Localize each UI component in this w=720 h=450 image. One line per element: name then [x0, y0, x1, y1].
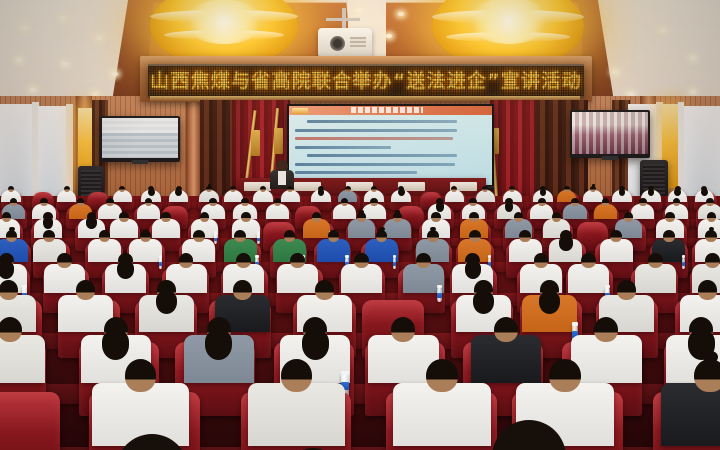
audience-head [371, 186, 377, 192]
audience-torso [661, 383, 720, 446]
audience-hair [559, 236, 572, 251]
audience-head [145, 198, 153, 206]
chair [0, 392, 60, 450]
audience-torso [530, 204, 553, 219]
audience-torso [152, 219, 179, 238]
bottle-label [393, 262, 397, 266]
chair-highlight [362, 300, 424, 323]
monitor-mount-right [602, 156, 618, 160]
water-bottle [437, 288, 442, 303]
audience-torso [348, 219, 375, 238]
audience-head [665, 212, 674, 222]
downlight [62, 62, 68, 66]
flag-banner [274, 128, 283, 154]
audience-head [43, 230, 55, 242]
audience-head [514, 212, 523, 222]
audience-torso [281, 190, 300, 202]
audience-hair [117, 261, 133, 279]
water-bottle [214, 234, 217, 243]
audience-head [161, 212, 170, 222]
downlight [60, 16, 66, 20]
slide-header-text [351, 107, 423, 113]
audience-head [209, 198, 217, 206]
bottle-cap [393, 255, 397, 259]
bottle-label [257, 238, 260, 241]
audience-head [519, 230, 531, 242]
audience-hair [395, 210, 399, 214]
audience-torso [563, 204, 586, 219]
bottle-cap [341, 371, 348, 375]
audience-torso [635, 264, 676, 293]
downlight [628, 92, 634, 96]
audience-head [40, 198, 48, 206]
ceiling-projector [318, 28, 372, 58]
audience-torso [0, 335, 45, 383]
audience-head [705, 230, 717, 242]
audience-head [431, 212, 440, 222]
slide-text-line [307, 154, 457, 157]
audience-torso [594, 204, 617, 219]
audience-head [391, 317, 415, 342]
audience-head [206, 186, 212, 192]
audience-head [617, 280, 636, 300]
audience-head [469, 198, 477, 206]
chair-highlight [0, 392, 60, 431]
monitor-mount-left [132, 160, 148, 164]
water-bottle [682, 258, 686, 270]
audience-head [193, 230, 205, 242]
projector-lens-icon [330, 36, 345, 51]
audience-torso [88, 239, 121, 262]
audience-head [76, 280, 95, 300]
audience-torso [445, 190, 464, 202]
audience-torso [253, 190, 272, 202]
conference-photo: 山西焦煤与省高院联合举办“送法进企”宣讲活动 [0, 0, 720, 450]
audience-head [2, 212, 11, 222]
audience-head [354, 253, 369, 268]
bottle-cap [214, 231, 217, 235]
bottle-cap [345, 255, 349, 259]
led-banner: 山西焦煤与省高院联合举办“送法进企”宣讲活动 [148, 64, 584, 98]
downlight [112, 72, 118, 76]
flag-banner [251, 130, 260, 156]
audience-torso [266, 204, 289, 219]
audience-head [233, 280, 252, 300]
audience-head [241, 212, 250, 222]
audience-head [706, 198, 714, 206]
audience-torso [98, 204, 121, 219]
slide-text-line [295, 137, 453, 140]
audience-head [469, 212, 478, 222]
projection-screen [287, 104, 494, 188]
wall-monitor-right-screen [572, 112, 648, 154]
bottle-cap [682, 255, 686, 259]
chair-highlight [87, 192, 109, 199]
slide-text-line [295, 129, 457, 132]
downlight [92, 92, 98, 96]
bottle-label [159, 262, 163, 266]
audience-head [469, 230, 481, 242]
audience-head [594, 317, 618, 342]
audience-head [106, 198, 114, 206]
presenter [270, 160, 294, 188]
audience-head [6, 230, 18, 242]
audience-head [119, 212, 128, 222]
audience-seating [0, 196, 720, 450]
audience-head [10, 198, 18, 206]
audience-hair [505, 202, 513, 211]
audience-head [8, 186, 14, 192]
audience-torso [333, 204, 356, 219]
slide-text-line [295, 146, 391, 149]
audience-head [705, 253, 720, 268]
audience-head [281, 359, 313, 392]
audience-head [284, 230, 296, 242]
audience-torso [393, 383, 490, 446]
audience-head [538, 198, 546, 206]
audience-torso [129, 239, 162, 262]
audience-head [673, 198, 681, 206]
audience-hair [359, 210, 363, 214]
audience-head [663, 230, 675, 242]
audience-head [494, 317, 518, 342]
audience-head [0, 280, 18, 300]
bottle-cap [159, 255, 163, 259]
audience-hair [539, 291, 560, 314]
audience-hair [156, 291, 177, 314]
audience-head [602, 198, 610, 206]
audience-torso [303, 219, 330, 238]
audience-head [624, 212, 633, 222]
audience-torso [571, 335, 641, 383]
audience-torso [113, 190, 132, 202]
downlight [16, 58, 22, 62]
audience-head [57, 253, 72, 268]
audience-head [707, 212, 716, 222]
slide-text-line [295, 171, 417, 174]
audience-head [99, 230, 111, 242]
audience-head [590, 186, 596, 192]
water-bottle [257, 234, 260, 243]
chair-highlight [577, 222, 608, 233]
audience-torso [568, 264, 609, 293]
audience-torso [277, 264, 318, 293]
audience-head [125, 359, 157, 392]
audience-hair [592, 184, 595, 186]
audience-head [698, 280, 717, 300]
audience-head [200, 212, 209, 222]
audience-head [236, 253, 251, 268]
downlight [690, 56, 696, 60]
audience-head [393, 212, 402, 222]
downlight [398, 12, 404, 16]
slide-text-line [307, 120, 457, 123]
bottle-label [682, 262, 686, 266]
audience-head [639, 198, 647, 206]
led-banner-text: 山西焦煤与省高院联合举办“送法进企”宣讲活动 [150, 72, 581, 91]
audience-head [179, 253, 194, 268]
audience-torso [384, 219, 411, 238]
audience-torso [57, 190, 76, 202]
audience-head [648, 253, 663, 268]
audience-head [427, 230, 439, 242]
audience-hair [148, 189, 155, 197]
audience-head [274, 198, 282, 206]
slide-text-line [295, 163, 455, 166]
audience-head [571, 198, 579, 206]
bottle-cap [22, 285, 27, 289]
bottle-cap [437, 285, 442, 289]
audience-torso [341, 264, 382, 293]
audience-head [376, 230, 388, 242]
audience-torso [224, 190, 243, 202]
audience-torso [471, 335, 541, 383]
audience-hair [436, 202, 444, 211]
downlight [386, 34, 392, 38]
audience-head [564, 186, 570, 192]
audience-head [241, 198, 249, 206]
presenter-shirt [278, 171, 286, 185]
bottle-cap [488, 255, 492, 259]
downlight [356, 8, 362, 12]
audience-hair [86, 217, 96, 229]
bottle-cap [572, 322, 578, 326]
projection-screen-surface [289, 106, 492, 185]
audience-head [610, 230, 622, 242]
audience-hair [465, 261, 481, 279]
bottle-label [437, 293, 442, 298]
audience-torso [110, 219, 137, 238]
water-bottle [393, 258, 397, 270]
audience-hair [208, 184, 211, 186]
downlight [660, 28, 666, 32]
downlight [690, 90, 696, 94]
audience-head [341, 198, 349, 206]
downlight [612, 70, 618, 74]
projector-vent [350, 37, 366, 49]
slide-logo-icon [292, 108, 308, 114]
audience-head [426, 359, 458, 392]
downlight [22, 26, 28, 30]
audience-head [0, 317, 22, 342]
downlight [30, 88, 36, 92]
audience-head [315, 280, 334, 300]
wall-monitor-right [570, 110, 650, 158]
audience-head [549, 359, 581, 392]
bottle-cap [257, 231, 260, 235]
audience-head [357, 212, 366, 222]
audience-head [581, 253, 596, 268]
water-bottle [159, 258, 163, 270]
slide-header-band [289, 106, 492, 115]
projector-bracket [326, 18, 360, 21]
audience-torso [600, 239, 633, 262]
audience-hair [379, 227, 385, 232]
audience-head [290, 253, 305, 268]
audience-hair [430, 227, 436, 232]
audience-head [234, 230, 246, 242]
downlight [96, 36, 102, 40]
audience-head [345, 186, 351, 192]
audience-head [416, 253, 431, 268]
audience-hair [473, 291, 494, 314]
bottle-cap [255, 255, 259, 259]
audience-torso [583, 190, 602, 202]
audience-head [534, 253, 549, 268]
audience-hair [9, 227, 15, 232]
bottle-cap [605, 285, 610, 289]
audience-hair [102, 330, 129, 360]
audience-head [694, 359, 720, 392]
audience-head [140, 230, 152, 242]
audience-head [64, 186, 70, 192]
wall-monitor-left [100, 116, 180, 162]
audience-torso [631, 204, 654, 219]
bottle-label [214, 238, 217, 241]
audience-head [328, 230, 340, 242]
wall-monitor-left-screen [102, 118, 178, 158]
audience-hair [302, 330, 329, 360]
audience-torso [476, 190, 495, 202]
audience-head [370, 198, 378, 206]
audience-torso [248, 383, 345, 446]
audience-torso [137, 204, 160, 219]
